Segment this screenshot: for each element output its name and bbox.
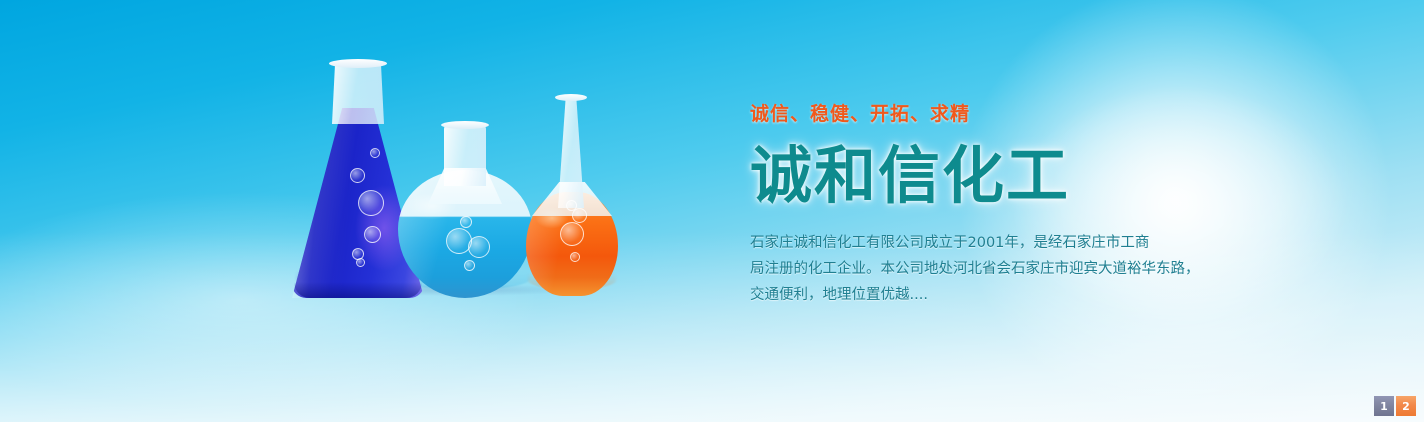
- hero-banner: 诚信、稳健、开拓、求精 诚和信化工 石家庄诚和信化工有限公司成立于2001年，是…: [0, 0, 1424, 422]
- pagination-slide-1[interactable]: 1: [1374, 396, 1394, 416]
- banner-title: 诚和信化工: [750, 138, 1270, 214]
- pear-flask-neck: [558, 96, 584, 208]
- description-line: 局注册的化工企业。本公司地处河北省会石家庄市迎宾大道裕华东路，: [750, 256, 1270, 282]
- round-flask-neck: [444, 124, 486, 186]
- banner-slogan: 诚信、稳健、开拓、求精: [750, 100, 1270, 128]
- description-line: 交通便利，地理位置优越....: [750, 282, 1270, 308]
- carousel-pagination[interactable]: 1 2: [1374, 396, 1416, 416]
- erlenmeyer-lip: [329, 59, 387, 68]
- erlenmeyer-neck: [332, 62, 384, 124]
- pear-shaped-flask-icon: [526, 96, 618, 296]
- round-flask-lip: [441, 121, 489, 129]
- round-bottom-flask-icon: [398, 124, 532, 298]
- pagination-slide-2[interactable]: 2: [1396, 396, 1416, 416]
- chemistry-flasks-illustration: [286, 52, 626, 352]
- description-line: 石家庄诚和信化工有限公司成立于2001年，是经石家庄市工商: [750, 230, 1270, 256]
- pear-flask-lip: [555, 94, 587, 101]
- banner-text-block: 诚信、稳健、开拓、求精 诚和信化工 石家庄诚和信化工有限公司成立于2001年，是…: [750, 100, 1270, 308]
- banner-description: 石家庄诚和信化工有限公司成立于2001年，是经石家庄市工商 局注册的化工企业。本…: [750, 230, 1270, 308]
